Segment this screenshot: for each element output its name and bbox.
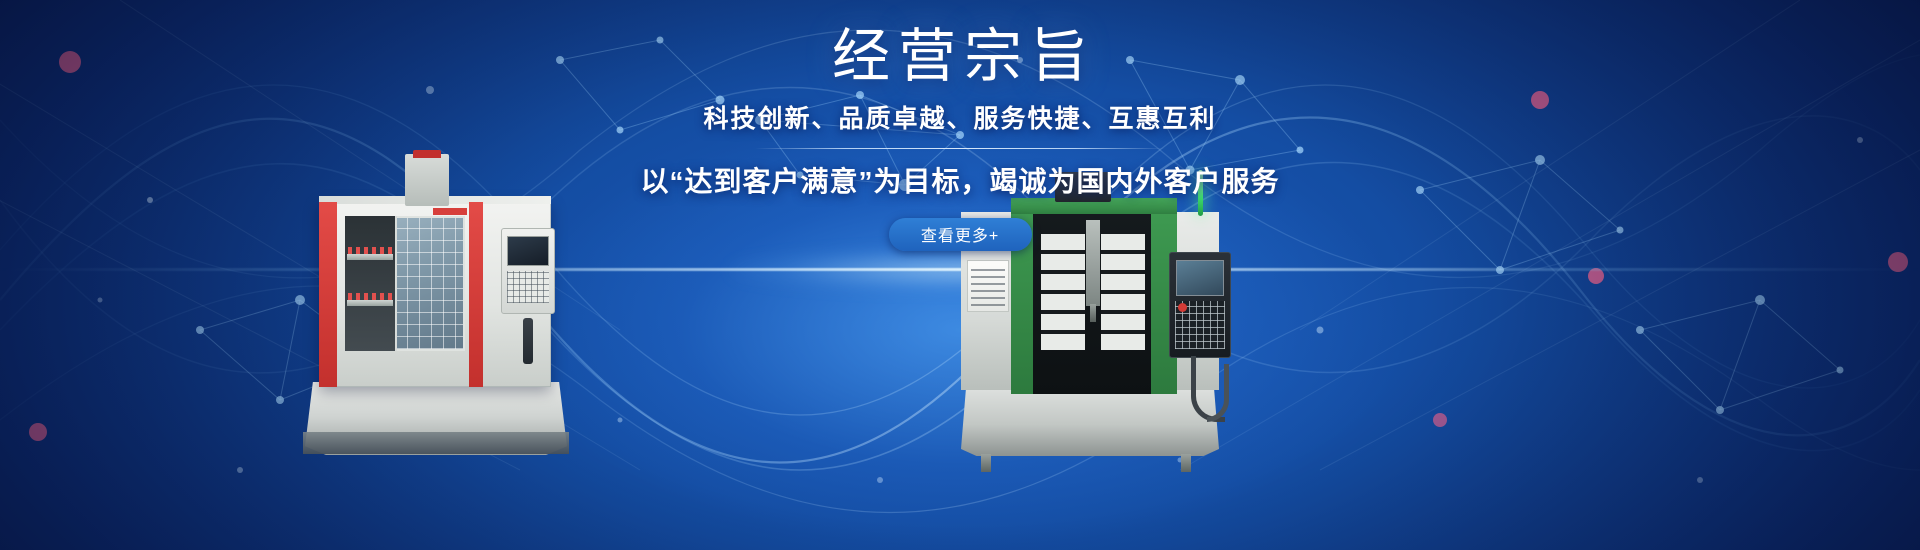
machine-tool-rack	[348, 293, 392, 300]
machine-base	[961, 386, 1219, 456]
machine-spindle-tip	[1090, 304, 1096, 322]
banner-subtitle: 科技创新、品质卓越、服务快捷、互惠互利	[703, 99, 1216, 135]
banner-divider	[755, 148, 1165, 149]
machine-cnc-screen	[1176, 260, 1224, 296]
machine-emergency-stop-icon	[1178, 303, 1187, 312]
machine-foot	[981, 454, 991, 472]
machine-spec-label-text	[971, 266, 1005, 306]
machine-base-shadow	[303, 432, 569, 454]
machine-pendant-arm	[523, 318, 533, 364]
banner-content: 经营宗旨 科技创新、品质卓越、服务快捷、互惠互利 以“达到客户满意”为目标，竭诚…	[0, 0, 1920, 251]
machine-panel-keypad	[507, 271, 549, 303]
machine-foot	[1181, 454, 1191, 472]
banner-tagline: 以“达到客户满意”为目标，竭诚为国内外客户服务	[640, 160, 1279, 200]
banner-title: 经营宗旨	[824, 27, 1096, 88]
machine-shelf	[347, 254, 393, 260]
hero-banner: 经营宗旨 科技创新、品质卓越、服务快捷、互惠互利 以“达到客户满意”为目标，竭诚…	[0, 0, 1920, 550]
view-more-button[interactable]: 查看更多+	[889, 218, 1032, 251]
machine-shelf	[347, 300, 393, 306]
machine-cable-coil	[1207, 364, 1229, 422]
